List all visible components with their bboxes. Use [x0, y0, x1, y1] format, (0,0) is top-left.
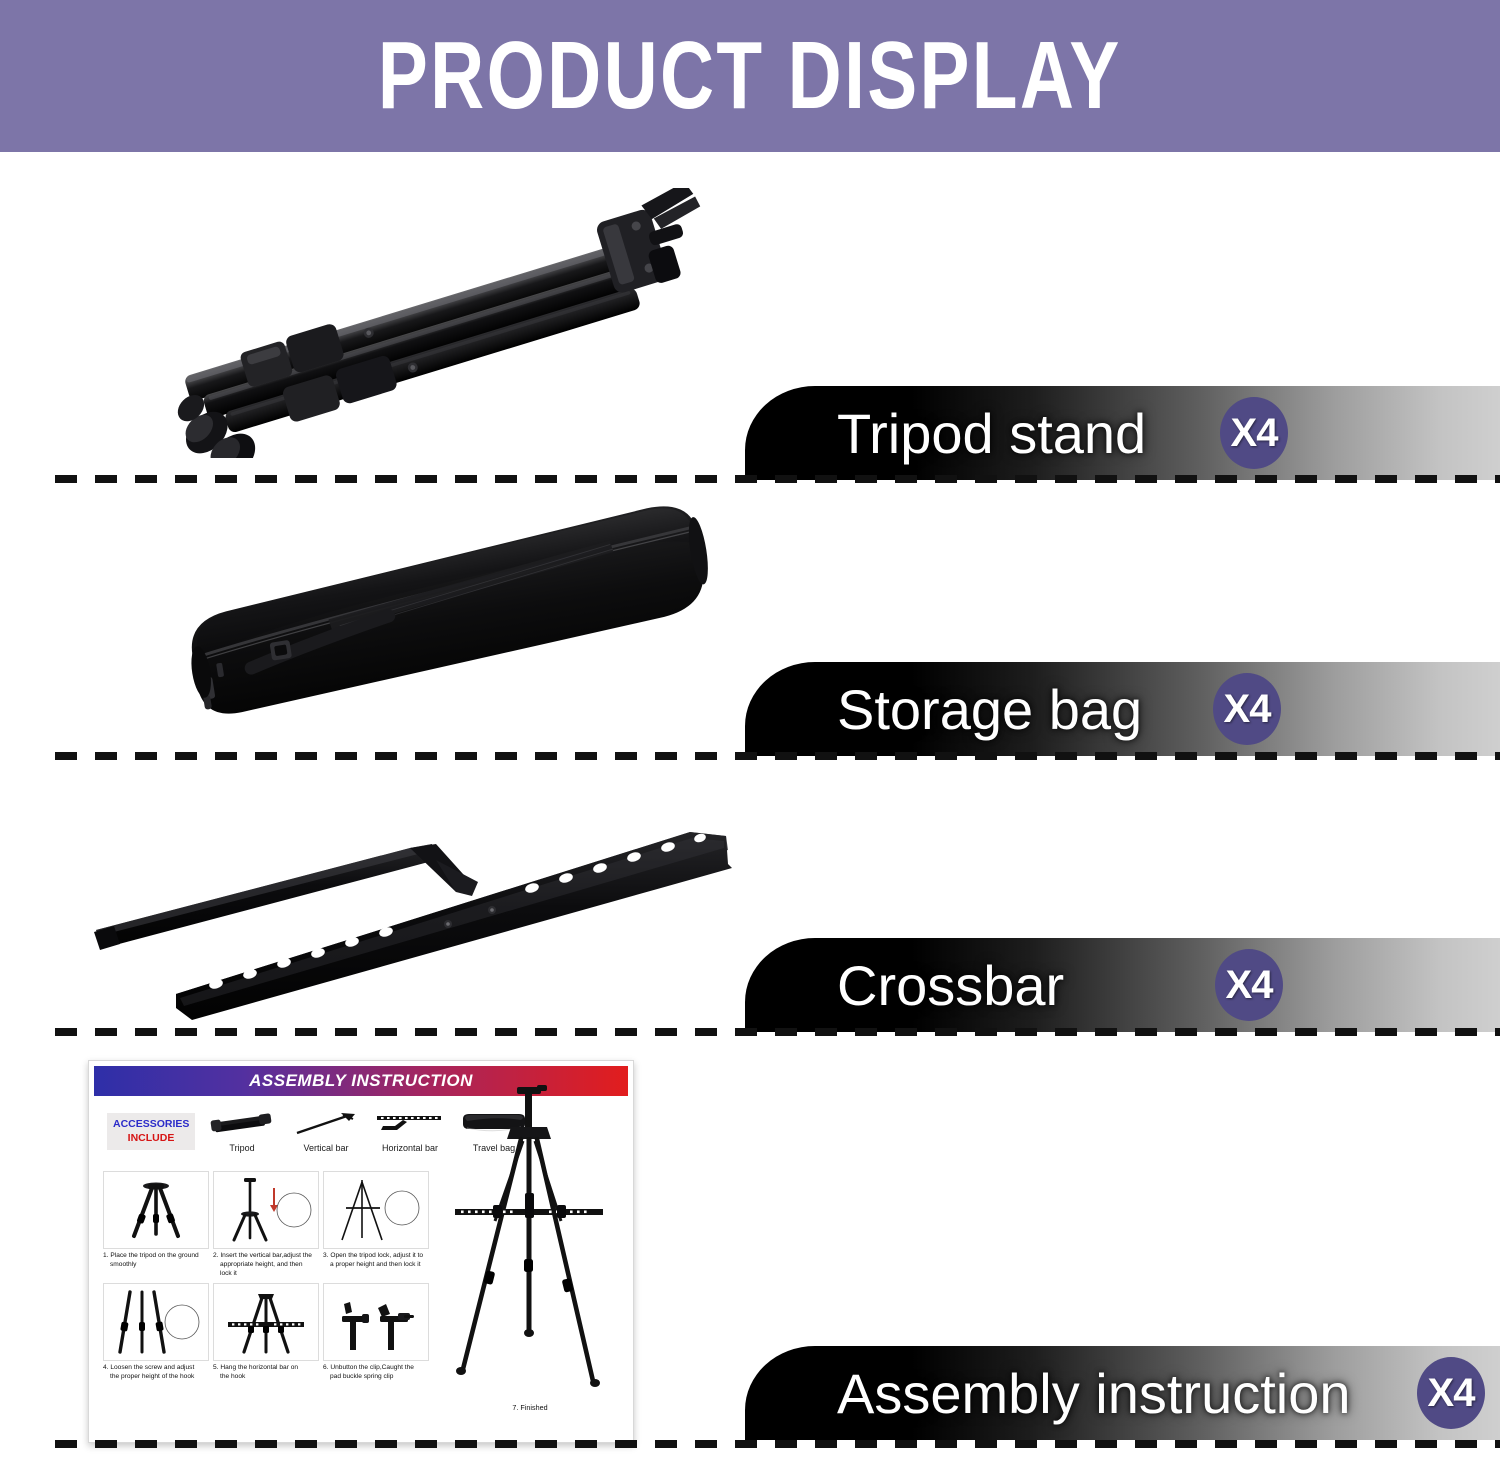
item-label-text: Storage bag — [837, 677, 1142, 742]
accessories-include-box: ACCESSORIES INCLUDE — [107, 1113, 195, 1149]
instruction-sheet-title: ASSEMBLY INSTRUCTION — [249, 1071, 473, 1091]
row-divider-4 — [55, 1440, 1500, 1448]
assembly-step: 1. Place the tripod on the ground smooth… — [103, 1171, 209, 1279]
accessory-horizontal-bar: Horizontal bar — [373, 1110, 447, 1153]
item-label-bar-assembly-instruction: Assembly instruction X4 — [745, 1346, 1500, 1440]
finished-step-caption: 7. Finished — [441, 1403, 619, 1412]
step-line1: Loosen the screw and adjust — [110, 1364, 194, 1371]
step-line1: Open the tripod lock, adjust it to — [330, 1252, 423, 1259]
assembly-step-caption: 5. Hang the horizontal bar on the hook — [213, 1364, 319, 1382]
step-number: 2. — [213, 1252, 219, 1259]
assembly-step-image — [213, 1283, 319, 1361]
page-header-banner: PRODUCT DISPLAY — [0, 0, 1500, 152]
step-number: 1. — [103, 1252, 109, 1259]
finished-easel-icon — [441, 1081, 619, 1411]
tripod-on-ground-icon — [108, 1174, 204, 1246]
assembly-step-caption: 2. Insert the vertical bar,adjust the ap… — [213, 1252, 319, 1279]
item-label-bar-storage-bag: Storage bag X4 — [745, 662, 1500, 756]
assembly-step: 3. Open the tripod lock, adjust it to a … — [323, 1171, 429, 1279]
assembly-step-image — [213, 1171, 319, 1249]
step-line2: pad buckle spring clip — [323, 1373, 427, 1382]
step-line1: Unbutton the clip,Caught the — [330, 1364, 414, 1371]
step-number: 3. — [323, 1252, 329, 1259]
step-line2: a proper height and then lock it — [323, 1261, 427, 1270]
assembly-step-caption: 1. Place the tripod on the ground smooth… — [103, 1252, 209, 1270]
row-divider-3 — [55, 1028, 1500, 1036]
step-line2: the proper height of the hook — [103, 1373, 207, 1382]
tripod-icon — [205, 1110, 279, 1136]
assembly-step: 5. Hang the horizontal bar on the hook — [213, 1283, 319, 1382]
accessories-label-line1: ACCESSORIES — [113, 1118, 189, 1131]
open-tripod-lock-icon — [328, 1174, 424, 1246]
item-label-text: Tripod stand — [837, 401, 1146, 466]
accessory-vertical-bar: Vertical bar — [289, 1110, 363, 1153]
assembly-step-image — [323, 1171, 429, 1249]
assembly-step-caption: 4. Loosen the screw and adjust the prope… — [103, 1364, 209, 1382]
item-label-text: Crossbar — [837, 953, 1064, 1018]
step-line1: Place the tripod on the ground — [110, 1252, 198, 1259]
horizontal-bar-icon — [373, 1110, 447, 1136]
assembly-step-caption: 6. Unbutton the clip,Caught the pad buck… — [323, 1364, 429, 1382]
quantity-badge: X4 — [1215, 949, 1283, 1021]
accessories-label-line2: INCLUDE — [113, 1132, 189, 1145]
accessory-tripod: Tripod — [205, 1110, 279, 1153]
assembly-steps: 1. Place the tripod on the ground smooth… — [103, 1171, 433, 1381]
item-label-bar-crossbar: Crossbar X4 — [745, 938, 1500, 1032]
step-number: 6. — [323, 1364, 329, 1371]
loosen-screw-icon — [108, 1286, 204, 1358]
quantity-badge-text: X4 — [1226, 963, 1273, 1008]
tripod-stand-photo — [118, 188, 718, 458]
assembly-step-image — [103, 1283, 209, 1361]
accessory-caption: Tripod — [205, 1143, 279, 1153]
row-divider-2 — [55, 752, 1500, 760]
step-line2: the hook — [213, 1373, 317, 1382]
row-divider-1 — [55, 475, 1500, 483]
quantity-badge-text: X4 — [1224, 687, 1271, 732]
assembly-step-caption: 3. Open the tripod lock, adjust it to a … — [323, 1252, 429, 1270]
assembly-step: 4. Loosen the screw and adjust the prope… — [103, 1283, 209, 1382]
crossbar-photo — [80, 808, 740, 1023]
item-label-bar-tripod-stand: Tripod stand X4 — [745, 386, 1500, 480]
hang-horizontal-bar-icon — [218, 1286, 314, 1358]
step-line1: Hang the horizontal bar on — [220, 1364, 298, 1371]
page-title: PRODUCT DISPLAY — [378, 28, 1122, 124]
accessory-caption: Horizontal bar — [373, 1143, 447, 1153]
quantity-badge: X4 — [1213, 673, 1281, 745]
finished-easel-illustration: 7. Finished — [441, 1081, 619, 1426]
item-label-text: Assembly instruction — [837, 1361, 1351, 1426]
step-line2: appropriate height, and then — [213, 1261, 317, 1270]
quantity-badge: X4 — [1417, 1357, 1485, 1429]
step-line2: smoothly — [103, 1261, 207, 1270]
quantity-badge-text: X4 — [1428, 1371, 1475, 1416]
assembly-step: 6. Unbutton the clip,Caught the pad buck… — [323, 1283, 429, 1382]
quantity-badge-text: X4 — [1231, 411, 1278, 456]
step-number: 4. — [103, 1364, 109, 1371]
step-number: 5. — [213, 1364, 219, 1371]
accessory-caption: Vertical bar — [289, 1143, 363, 1153]
assembly-steps-grid: 1. Place the tripod on the ground smooth… — [103, 1171, 433, 1381]
assembly-step-image — [323, 1283, 429, 1361]
insert-vertical-bar-icon — [218, 1174, 314, 1246]
step-line1: Insert the vertical bar,adjust the — [220, 1252, 312, 1259]
unbutton-clip-icon — [328, 1286, 424, 1358]
storage-bag-photo — [150, 498, 730, 743]
assembly-step: 2. Insert the vertical bar,adjust the ap… — [213, 1171, 319, 1279]
quantity-badge: X4 — [1220, 397, 1288, 469]
assembly-instruction-sheet: ASSEMBLY INSTRUCTION ACCESSORIES INCLUDE… — [88, 1060, 634, 1443]
assembly-step-image — [103, 1171, 209, 1249]
step-line3: lock it — [213, 1270, 317, 1279]
vertical-bar-icon — [289, 1110, 363, 1136]
